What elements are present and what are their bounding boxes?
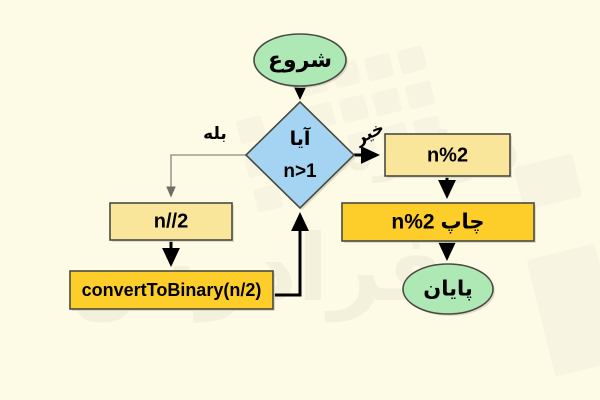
halve-label: n//2 bbox=[154, 210, 188, 232]
node-start[interactable]: شروع bbox=[254, 34, 348, 88]
decision-shape bbox=[246, 102, 354, 208]
edge-label-no: خیر bbox=[351, 118, 387, 149]
node-print[interactable]: چاپ n%2 bbox=[342, 203, 536, 243]
edge-label-yes: بله bbox=[203, 124, 227, 143]
flowchart-diagram: بله خیر شروع آیا n>1 n%2 چاپ n%2 bbox=[0, 0, 600, 400]
decision-label-line2: n>1 bbox=[283, 161, 317, 182]
node-recurse[interactable]: convertToBinary(n/2) bbox=[70, 271, 275, 311]
recurse-label: convertToBinary(n/2) bbox=[82, 280, 262, 300]
node-halve[interactable]: n//2 bbox=[110, 203, 234, 242]
node-end[interactable]: پایان bbox=[403, 264, 495, 316]
flowchart-canvas: فرادرس فرادرس bbox=[0, 0, 600, 400]
node-mod[interactable]: n%2 bbox=[385, 134, 512, 178]
start-label: شروع bbox=[268, 47, 332, 73]
end-label: پایان bbox=[423, 278, 472, 301]
mod-label: n%2 bbox=[427, 144, 468, 166]
print-label: چاپ n%2 bbox=[391, 211, 484, 234]
node-decision[interactable]: آیا n>1 bbox=[246, 102, 356, 210]
edge-recurse-to-decision bbox=[273, 215, 300, 295]
edge-decision-yes-to-halve bbox=[171, 155, 246, 196]
decision-label-line1: آیا bbox=[290, 126, 311, 150]
